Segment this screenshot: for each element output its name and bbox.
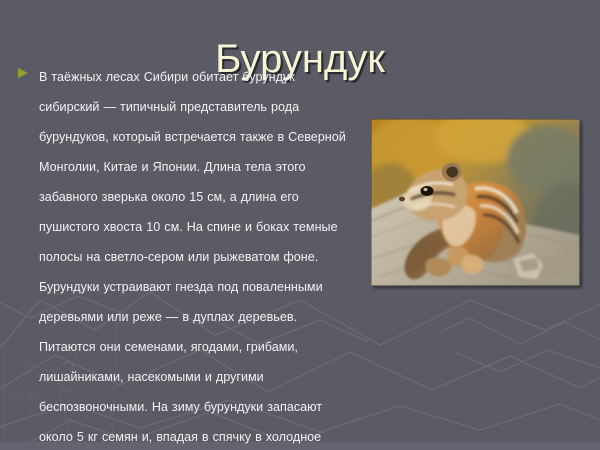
bullet-paragraph-block: В таёжных лесах Сибири обитает бурундук …: [16, 62, 346, 450]
triangle-right-bullet-icon: [16, 67, 30, 79]
presentation-slide: Ziкomp Бурундук В таёжных лесах Сибири о…: [0, 0, 600, 450]
chipmunk-photo: [371, 119, 580, 286]
slide-body-text: В таёжных лесах Сибири обитает бурундук …: [39, 62, 346, 450]
